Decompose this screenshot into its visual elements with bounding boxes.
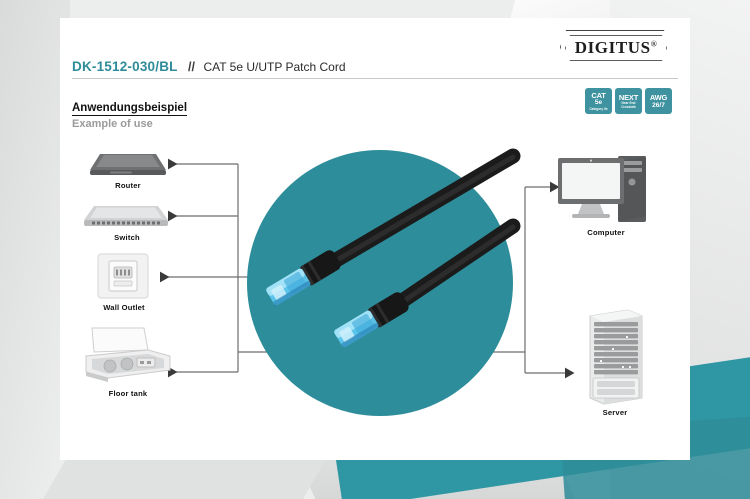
header: DIGITUS® DK-1512-030/BL // CAT 5e U/UTP … (60, 18, 690, 90)
digitus-logo: DIGITUS® (560, 30, 672, 66)
server-label: Server (555, 408, 675, 417)
next-badge-line1: NEXT (619, 94, 638, 102)
router-icon (86, 148, 170, 180)
product-sku: DK-1512-030/BL (72, 59, 178, 74)
switch-icon (82, 200, 172, 232)
floor-tank-device: Floor tank (82, 326, 174, 388)
section-heading-de: Anwendungsbeispiel (72, 102, 187, 116)
cat-badge-line3: Category 5e (589, 108, 607, 112)
certification-badges: CAT 5e Category 5e NEXT Near End Crossta… (585, 88, 672, 114)
title-separator: // (188, 60, 195, 74)
awg-badge: AWG 26/7 (645, 88, 672, 114)
wall-outlet-label: Wall Outlet (64, 303, 184, 312)
computer-device: Computer (556, 152, 656, 226)
section-heading-en: Example of use (72, 118, 153, 130)
datasheet-page: DIGITUS® DK-1512-030/BL // CAT 5e U/UTP … (0, 0, 750, 499)
server-icon (582, 308, 648, 406)
switch-device: Switch (82, 200, 172, 232)
cat-badge: CAT 5e Category 5e (585, 88, 612, 114)
logo-text: DIGITUS® (575, 38, 658, 58)
floor-tank-label: Floor tank (68, 389, 188, 398)
next-badge-line3: Near End Crosstalk (616, 102, 641, 109)
server-device: Server (582, 308, 648, 406)
header-divider (72, 78, 678, 79)
title-row: DK-1512-030/BL // CAT 5e U/UTP Patch Cor… (72, 58, 346, 76)
switch-label: Switch (67, 233, 187, 242)
wall-outlet-device: Wall Outlet (96, 252, 152, 302)
next-badge: NEXT Near End Crosstalk (615, 88, 642, 114)
product-name: CAT 5e U/UTP Patch Cord (203, 60, 345, 74)
computer-label: Computer (546, 228, 666, 237)
floor-tank-icon (82, 326, 174, 388)
computer-icon (556, 152, 656, 226)
content-card: DIGITUS® DK-1512-030/BL // CAT 5e U/UTP … (60, 18, 690, 460)
logo-registered-icon: ® (651, 39, 658, 48)
cat-badge-line2: 5e (595, 100, 602, 107)
wall-outlet-icon (96, 252, 152, 302)
awg-badge-line2: 26/7 (652, 103, 665, 110)
router-device: Router (86, 148, 170, 180)
application-diagram: Router (60, 130, 690, 442)
product-photo-circle (245, 148, 515, 418)
router-label: Router (68, 181, 188, 190)
cat-badge-line1: CAT (591, 92, 605, 100)
awg-badge-line1: AWG (650, 94, 667, 102)
logo-wordmark: DIGITUS (575, 38, 651, 57)
